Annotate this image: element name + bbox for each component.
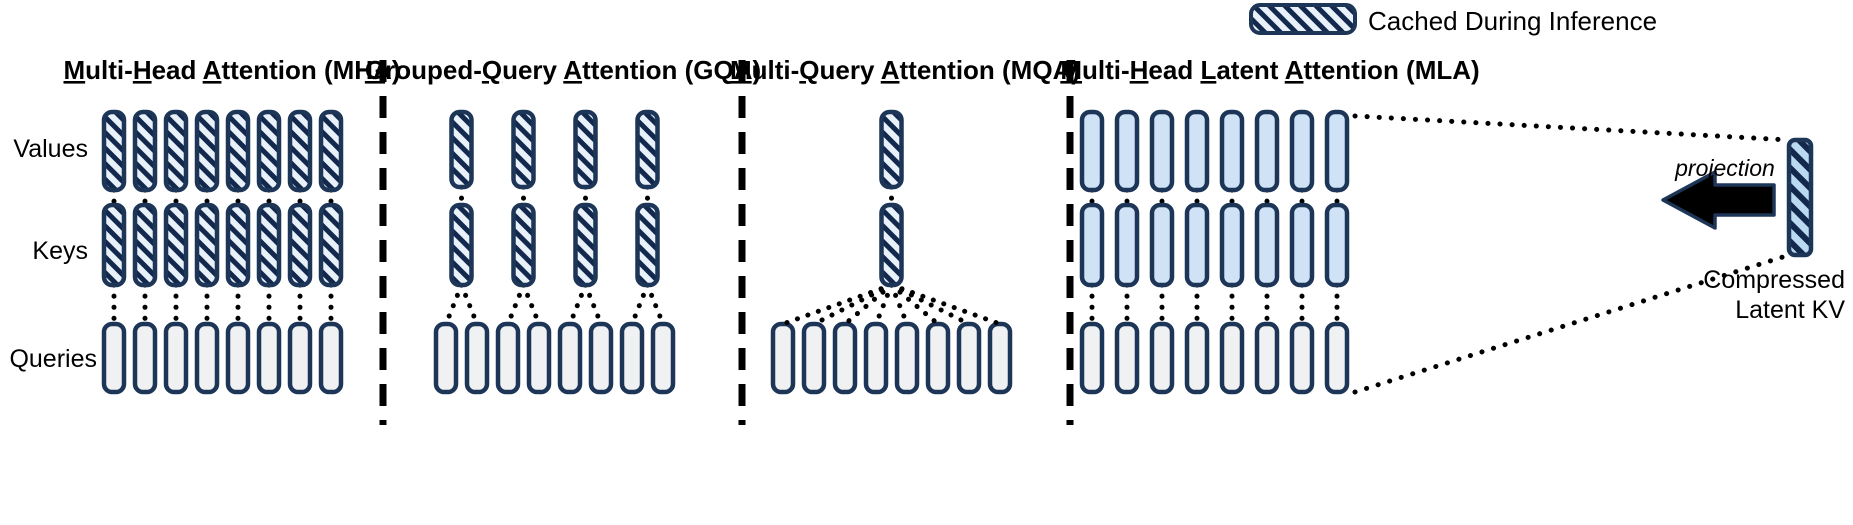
- value-box-mha-0: [104, 112, 124, 190]
- keys-row-gqa: [452, 205, 658, 285]
- queries-row-mqa: [773, 324, 1010, 392]
- value-box-gqa-1: [514, 112, 534, 187]
- query-box-mla-1: [1117, 324, 1137, 392]
- query-box-mha-5: [259, 324, 279, 392]
- latent-kv-group: projectionCompressedLatent KV: [1355, 116, 1845, 392]
- query-box-mha-2: [166, 324, 186, 392]
- values-row-mha: [104, 112, 341, 190]
- value-box-mha-1: [135, 112, 155, 190]
- key-box-gqa-1: [514, 205, 534, 285]
- queries-row-mla: [1082, 324, 1347, 392]
- value-box-mla-0: [1082, 112, 1102, 190]
- key-box-mla-2: [1152, 205, 1172, 285]
- connector-kq-gqa-2: [508, 285, 524, 324]
- query-box-mha-7: [321, 324, 341, 392]
- query-box-gqa-3: [529, 324, 549, 392]
- connector-kq-gqa-6: [632, 285, 648, 324]
- key-box-mha-6: [290, 205, 310, 285]
- connector-kq-gqa-5: [586, 285, 602, 324]
- query-box-mha-6: [290, 324, 310, 392]
- value-box-mqa-0: [882, 112, 902, 187]
- legend-swatch-icon: [1251, 5, 1355, 33]
- panel-title-gqa: Grouped-Query Attention (GQA): [365, 55, 761, 85]
- key-box-mla-3: [1187, 205, 1207, 285]
- query-box-mqa-6: [959, 324, 979, 392]
- connector-kq-gqa-0: [446, 285, 462, 324]
- query-box-mha-0: [104, 324, 124, 392]
- panel-title-mqa: Multi-Query Attention (MQA): [730, 55, 1080, 85]
- query-box-mla-6: [1292, 324, 1312, 392]
- compressed-latent-kv-box: [1789, 140, 1811, 255]
- diagram-root: Cached During Inference Multi-Head Atten…: [0, 0, 1853, 525]
- queries-row-gqa: [436, 324, 673, 392]
- latent-caption-line-1: Latent KV: [1735, 296, 1845, 324]
- query-box-mla-5: [1257, 324, 1277, 392]
- connector-kq-mqa-7: [892, 285, 1001, 324]
- value-box-mha-7: [321, 112, 341, 190]
- connector-kq-mqa-0: [783, 285, 892, 324]
- connector-kq-gqa-3: [524, 285, 540, 324]
- query-box-gqa-1: [467, 324, 487, 392]
- value-box-mha-4: [228, 112, 248, 190]
- values-row-gqa: [452, 112, 658, 187]
- query-box-mla-3: [1187, 324, 1207, 392]
- value-box-mha-3: [197, 112, 217, 190]
- query-box-gqa-6: [622, 324, 642, 392]
- query-box-mla-2: [1152, 324, 1172, 392]
- key-box-mha-4: [228, 205, 248, 285]
- key-box-gqa-3: [638, 205, 658, 285]
- values-row-mqa: [882, 112, 902, 187]
- key-box-mha-2: [166, 205, 186, 285]
- query-box-mla-4: [1222, 324, 1242, 392]
- connector-kq-gqa-7: [648, 285, 664, 324]
- key-box-mqa-0: [882, 205, 902, 285]
- value-box-mla-7: [1327, 112, 1347, 190]
- query-box-mqa-3: [866, 324, 886, 392]
- legend-label: Cached During Inference: [1368, 6, 1657, 36]
- query-box-mha-1: [135, 324, 155, 392]
- projection-label: projection: [1674, 155, 1775, 181]
- query-box-gqa-7: [653, 324, 673, 392]
- latent-caption-line-0: Compressed: [1703, 266, 1845, 294]
- key-box-gqa-0: [452, 205, 472, 285]
- keys-row-mla: [1082, 205, 1347, 285]
- value-box-mla-4: [1222, 112, 1242, 190]
- key-box-mha-3: [197, 205, 217, 285]
- value-box-mha-5: [259, 112, 279, 190]
- query-box-gqa-5: [591, 324, 611, 392]
- value-box-mla-5: [1257, 112, 1277, 190]
- panel-mla: [1082, 112, 1347, 392]
- query-box-gqa-2: [498, 324, 518, 392]
- query-box-mqa-4: [897, 324, 917, 392]
- key-box-mla-1: [1117, 205, 1137, 285]
- panel-mqa: [773, 112, 1010, 392]
- connector-kq-gqa-4: [570, 285, 586, 324]
- query-box-gqa-0: [436, 324, 456, 392]
- keys-row-mha: [104, 205, 341, 285]
- query-box-mqa-5: [928, 324, 948, 392]
- key-box-mla-0: [1082, 205, 1102, 285]
- key-box-mla-5: [1257, 205, 1277, 285]
- value-box-gqa-3: [638, 112, 658, 187]
- row-label-keys: Keys: [32, 237, 88, 265]
- query-box-mqa-2: [835, 324, 855, 392]
- value-box-mha-2: [166, 112, 186, 190]
- value-box-gqa-0: [452, 112, 472, 187]
- value-box-mha-6: [290, 112, 310, 190]
- panel-gqa: [436, 112, 673, 392]
- key-box-mla-6: [1292, 205, 1312, 285]
- row-labels: Values Keys Queries: [9, 135, 97, 373]
- query-box-mla-0: [1082, 324, 1102, 392]
- query-box-mqa-7: [990, 324, 1010, 392]
- value-box-mla-6: [1292, 112, 1312, 190]
- queries-row-mha: [104, 324, 341, 392]
- query-box-mla-7: [1327, 324, 1347, 392]
- attention-variants-figure: Cached During Inference Multi-Head Atten…: [0, 0, 1853, 525]
- key-box-mha-1: [135, 205, 155, 285]
- keys-row-mqa: [882, 205, 902, 285]
- key-box-mla-7: [1327, 205, 1347, 285]
- connectors-gqa: [446, 187, 663, 324]
- row-label-queries: Queries: [9, 345, 97, 373]
- legend: Cached During Inference: [1251, 5, 1657, 36]
- query-box-mqa-0: [773, 324, 793, 392]
- key-box-mha-7: [321, 205, 341, 285]
- connector-kq-gqa-1: [462, 285, 478, 324]
- key-box-gqa-2: [576, 205, 596, 285]
- query-box-mha-3: [197, 324, 217, 392]
- value-box-mla-2: [1152, 112, 1172, 190]
- latent-leader-line-top: [1355, 116, 1789, 140]
- values-row-mla: [1082, 112, 1347, 190]
- value-box-gqa-2: [576, 112, 596, 187]
- panel-mha: [104, 112, 341, 392]
- query-box-mha-4: [228, 324, 248, 392]
- key-box-mha-5: [259, 205, 279, 285]
- panel-title-mha: Multi-Head Attention (MHA): [63, 55, 400, 85]
- query-box-mqa-1: [804, 324, 824, 392]
- query-box-gqa-4: [560, 324, 580, 392]
- key-box-mha-0: [104, 205, 124, 285]
- panel-titles: Multi-Head Attention (MHA) Grouped-Query…: [63, 55, 1479, 85]
- row-label-values: Values: [13, 135, 88, 163]
- key-box-mla-4: [1222, 205, 1242, 285]
- value-box-mla-3: [1187, 112, 1207, 190]
- value-box-mla-1: [1117, 112, 1137, 190]
- panel-title-mla: Multi-Head Latent Attention (MLA): [1060, 55, 1479, 85]
